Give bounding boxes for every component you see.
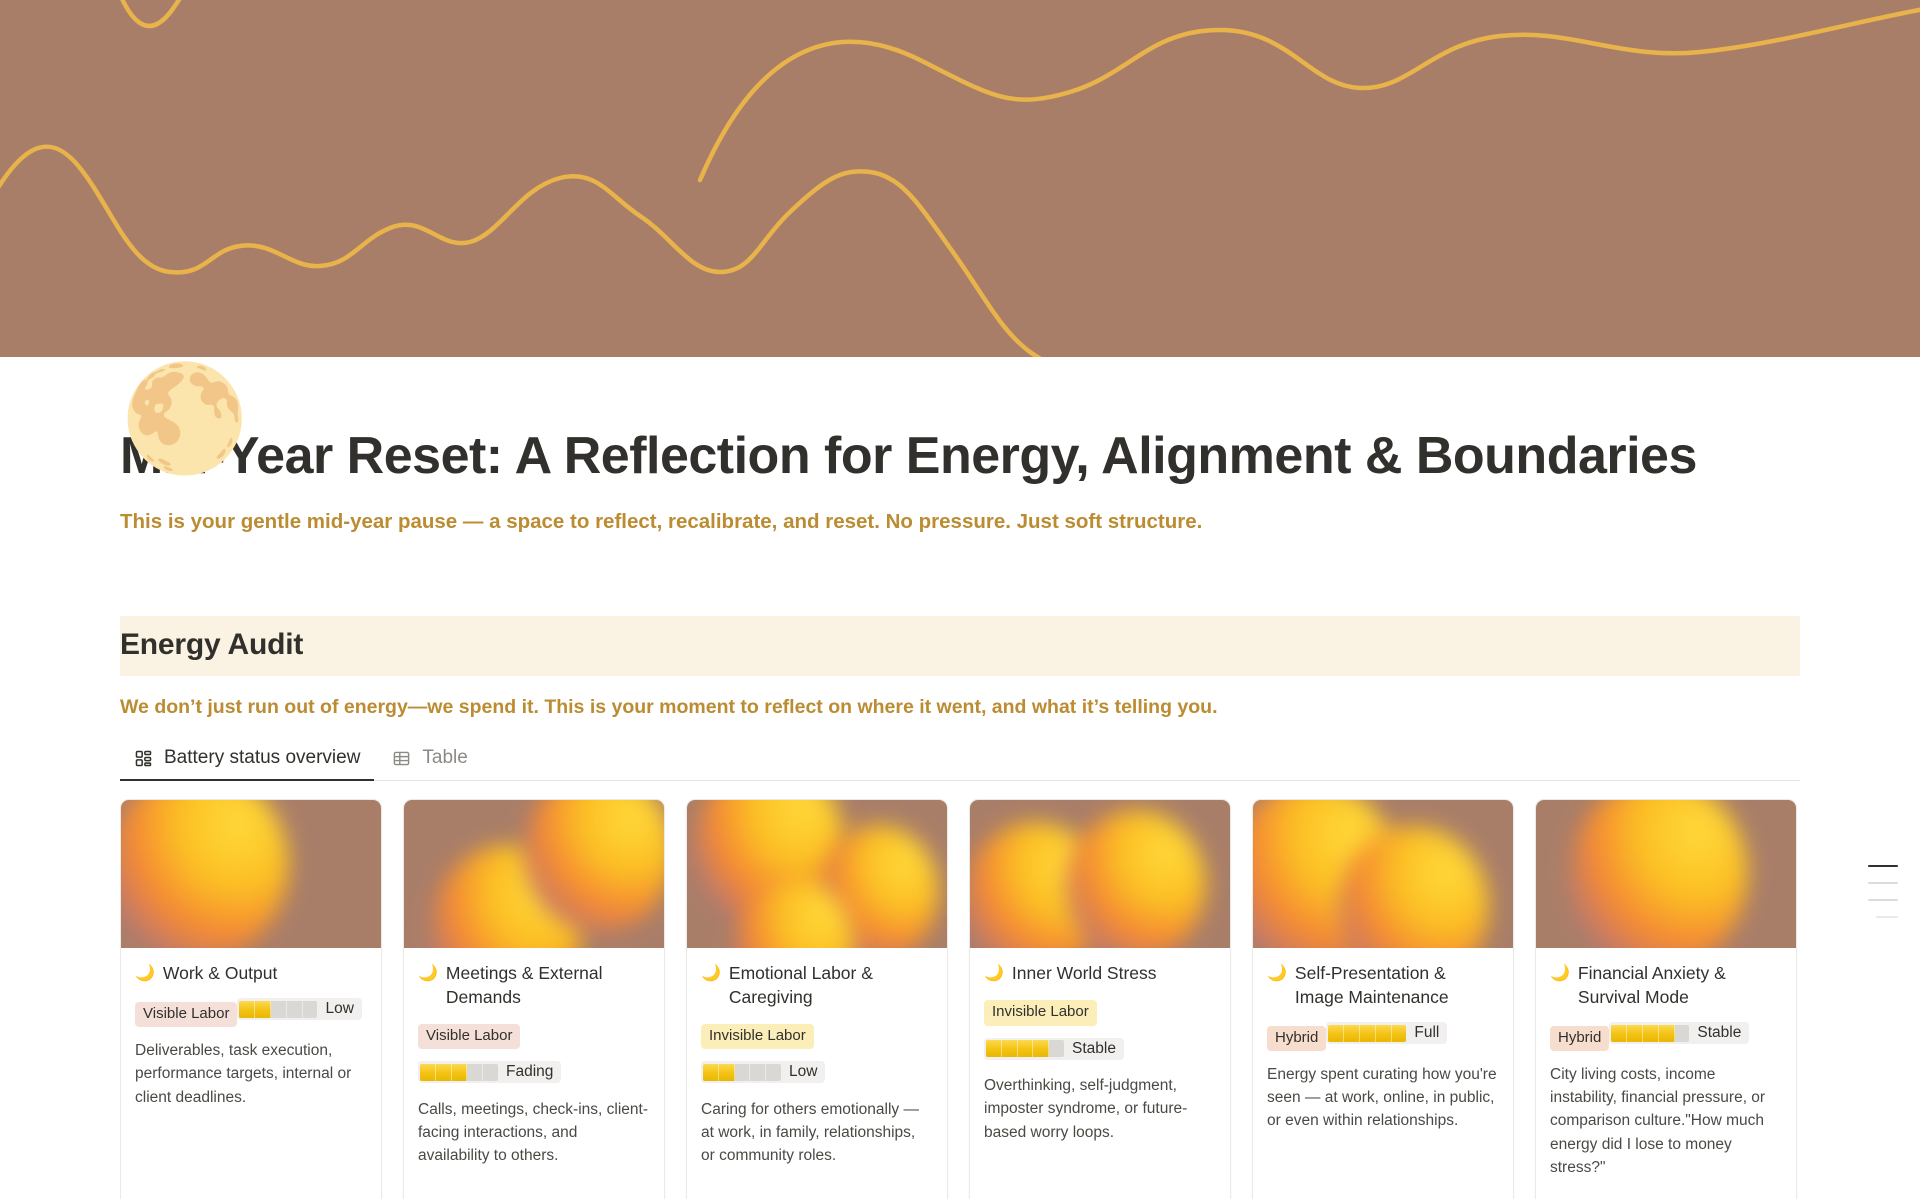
battery-segment xyxy=(255,1001,271,1018)
battery-segment xyxy=(483,1064,498,1081)
battery-segment xyxy=(1392,1025,1407,1042)
battery-status-indicator[interactable]: Stable xyxy=(984,1038,1124,1060)
banner-wave-decoration xyxy=(0,0,1920,357)
page-content: 🌕 Mid-Year Reset: A Reflection for Energ… xyxy=(0,425,1920,1199)
battery-segment xyxy=(735,1064,751,1081)
battery-segment xyxy=(1002,1040,1018,1057)
battery-segment xyxy=(271,1001,287,1018)
battery-status-card[interactable]: 🌙Emotional Labor & CaregivingInvisible L… xyxy=(686,799,948,1199)
page-subtitle[interactable]: This is your gentle mid-year pause — a s… xyxy=(120,507,1800,538)
table-of-contents-indicator[interactable] xyxy=(1868,865,1898,918)
battery-bar xyxy=(1328,1025,1406,1042)
card-title: 🌙Emotional Labor & Caregiving xyxy=(701,962,933,1010)
card-title: 🌙Self-Presentation & Image Maintenance xyxy=(1267,962,1499,1010)
card-body: 🌙Emotional Labor & CaregivingInvisible L… xyxy=(687,948,947,1185)
battery-segment xyxy=(1611,1025,1627,1042)
battery-segment xyxy=(1360,1025,1376,1042)
battery-status-indicator[interactable]: Full xyxy=(1326,1022,1447,1044)
crescent-moon-icon: 🌙 xyxy=(984,962,1004,986)
battery-segment xyxy=(1643,1025,1659,1042)
gradient-blob xyxy=(121,800,289,948)
page-banner[interactable] xyxy=(0,0,1920,357)
card-description: City living costs, income instability, f… xyxy=(1550,1063,1782,1179)
card-cover-image xyxy=(121,800,381,948)
card-tag-invisible[interactable]: Invisible Labor xyxy=(701,1024,814,1049)
page-title[interactable]: Mid-Year Reset: A Reflection for Energy,… xyxy=(120,425,1800,487)
battery-bar xyxy=(420,1064,498,1081)
battery-status-card[interactable]: 🌙Inner World StressInvisible LaborStable… xyxy=(969,799,1231,1199)
database-view-tabs: Battery status overview Table xyxy=(120,743,1800,781)
tab-label: Table xyxy=(422,747,467,769)
card-body: 🌙Meetings & External DemandsVisible Labo… xyxy=(404,948,664,1185)
card-title-text: Self-Presentation & Image Maintenance xyxy=(1295,962,1499,1010)
battery-segment xyxy=(1627,1025,1643,1042)
card-tag-hybrid[interactable]: Hybrid xyxy=(1550,1026,1609,1051)
gradient-blob xyxy=(1570,800,1748,948)
card-body: 🌙Inner World StressInvisible LaborStable… xyxy=(970,948,1230,1162)
card-description: Deliverables, task execution, performanc… xyxy=(135,1039,367,1109)
battery-bar xyxy=(239,1001,317,1018)
full-moon-icon[interactable]: 🌕 xyxy=(120,363,232,475)
crescent-moon-icon: 🌙 xyxy=(418,962,438,986)
battery-status-indicator[interactable]: Fading xyxy=(418,1061,561,1083)
gallery-grid-icon xyxy=(134,749,153,768)
battery-segment xyxy=(1376,1025,1392,1042)
card-title: 🌙Meetings & External Demands xyxy=(418,962,650,1010)
battery-segment xyxy=(303,1001,318,1018)
card-description: Overthinking, self-judgment, imposter sy… xyxy=(984,1074,1216,1144)
card-cover-image xyxy=(404,800,664,948)
battery-segment xyxy=(750,1064,766,1081)
battery-status-card[interactable]: 🌙Work & OutputVisible LaborLowDeliverabl… xyxy=(120,799,382,1199)
card-cover-image xyxy=(687,800,947,948)
battery-segment xyxy=(420,1064,436,1081)
battery-segment xyxy=(1675,1025,1690,1042)
battery-status-label: Stable xyxy=(1072,1040,1116,1058)
battery-status-label: Fading xyxy=(506,1063,553,1081)
battery-status-card-gallery: 🌙Work & OutputVisible LaborLowDeliverabl… xyxy=(120,799,1820,1199)
tab-table[interactable]: Table xyxy=(378,743,481,780)
battery-segment xyxy=(287,1001,303,1018)
card-tag-visible[interactable]: Visible Labor xyxy=(418,1024,520,1049)
battery-segment xyxy=(239,1001,255,1018)
battery-status-card[interactable]: 🌙Self-Presentation & Image MaintenanceHy… xyxy=(1252,799,1514,1199)
battery-segment xyxy=(1033,1040,1049,1057)
battery-bar xyxy=(703,1064,781,1081)
battery-segment xyxy=(436,1064,452,1081)
battery-segment xyxy=(703,1064,719,1081)
section-description[interactable]: We don’t just run out of energy—we spend… xyxy=(120,693,1800,721)
toc-line[interactable] xyxy=(1868,899,1898,901)
card-title-text: Work & Output xyxy=(163,962,277,986)
card-title-text: Inner World Stress xyxy=(1012,962,1157,986)
battery-segment xyxy=(1659,1025,1675,1042)
card-body: 🌙Self-Presentation & Image MaintenanceHy… xyxy=(1253,948,1513,1150)
tab-label: Battery status overview xyxy=(164,747,360,769)
card-description: Calls, meetings, check-ins, client-facin… xyxy=(418,1098,650,1168)
battery-segment xyxy=(452,1064,468,1081)
battery-status-label: Stable xyxy=(1697,1024,1741,1042)
battery-bar xyxy=(1611,1025,1689,1042)
battery-segment xyxy=(1018,1040,1034,1057)
toc-line[interactable] xyxy=(1876,916,1898,918)
battery-segment xyxy=(719,1064,735,1081)
battery-status-card[interactable]: 🌙Financial Anxiety & Survival ModeHybrid… xyxy=(1535,799,1797,1199)
card-description: Caring for others emotionally — at work,… xyxy=(701,1098,933,1168)
card-title-text: Financial Anxiety & Survival Mode xyxy=(1578,962,1782,1010)
battery-status-label: Full xyxy=(1414,1024,1439,1042)
battery-segment xyxy=(467,1064,483,1081)
tab-battery-status-overview[interactable]: Battery status overview xyxy=(120,743,374,780)
card-description: Energy spent curating how you're seen — … xyxy=(1267,1063,1499,1133)
toc-line[interactable] xyxy=(1868,882,1898,884)
crescent-moon-icon: 🌙 xyxy=(1267,962,1287,986)
battery-status-indicator[interactable]: Low xyxy=(701,1061,825,1083)
battery-segment xyxy=(986,1040,1002,1057)
card-tag-visible[interactable]: Visible Labor xyxy=(135,1002,237,1027)
card-title-text: Meetings & External Demands xyxy=(446,962,650,1010)
card-tag-hybrid[interactable]: Hybrid xyxy=(1267,1026,1326,1051)
section-heading-block: Energy Audit xyxy=(120,616,1800,676)
crescent-moon-icon: 🌙 xyxy=(1550,962,1570,986)
card-cover-image xyxy=(970,800,1230,948)
crescent-moon-icon: 🌙 xyxy=(135,962,155,986)
card-body: 🌙Work & OutputVisible LaborLowDeliverabl… xyxy=(121,948,381,1127)
card-cover-image xyxy=(1253,800,1513,948)
battery-bar xyxy=(986,1040,1064,1057)
section-heading-energy-audit[interactable]: Energy Audit xyxy=(120,628,1800,662)
battery-segment xyxy=(1049,1040,1064,1057)
battery-segment xyxy=(1344,1025,1360,1042)
battery-status-indicator[interactable]: Low xyxy=(237,998,361,1020)
gradient-blob xyxy=(1066,810,1206,948)
battery-segment xyxy=(1328,1025,1344,1042)
card-cover-image xyxy=(1536,800,1796,948)
card-title-text: Emotional Labor & Caregiving xyxy=(729,962,933,1010)
card-title: 🌙Financial Anxiety & Survival Mode xyxy=(1550,962,1782,1010)
card-tag-invisible[interactable]: Invisible Labor xyxy=(984,1000,1097,1025)
battery-status-card[interactable]: 🌙Meetings & External DemandsVisible Labo… xyxy=(403,799,665,1199)
crescent-moon-icon: 🌙 xyxy=(701,962,721,986)
battery-status-label: Low xyxy=(325,1000,353,1018)
card-title: 🌙Inner World Stress xyxy=(984,962,1216,986)
card-body: 🌙Financial Anxiety & Survival ModeHybrid… xyxy=(1536,948,1796,1197)
toc-line-active[interactable] xyxy=(1868,865,1898,867)
battery-status-label: Low xyxy=(789,1063,817,1081)
battery-segment xyxy=(766,1064,781,1081)
card-title: 🌙Work & Output xyxy=(135,962,367,986)
battery-status-indicator[interactable]: Stable xyxy=(1609,1022,1749,1044)
table-icon xyxy=(392,749,411,768)
